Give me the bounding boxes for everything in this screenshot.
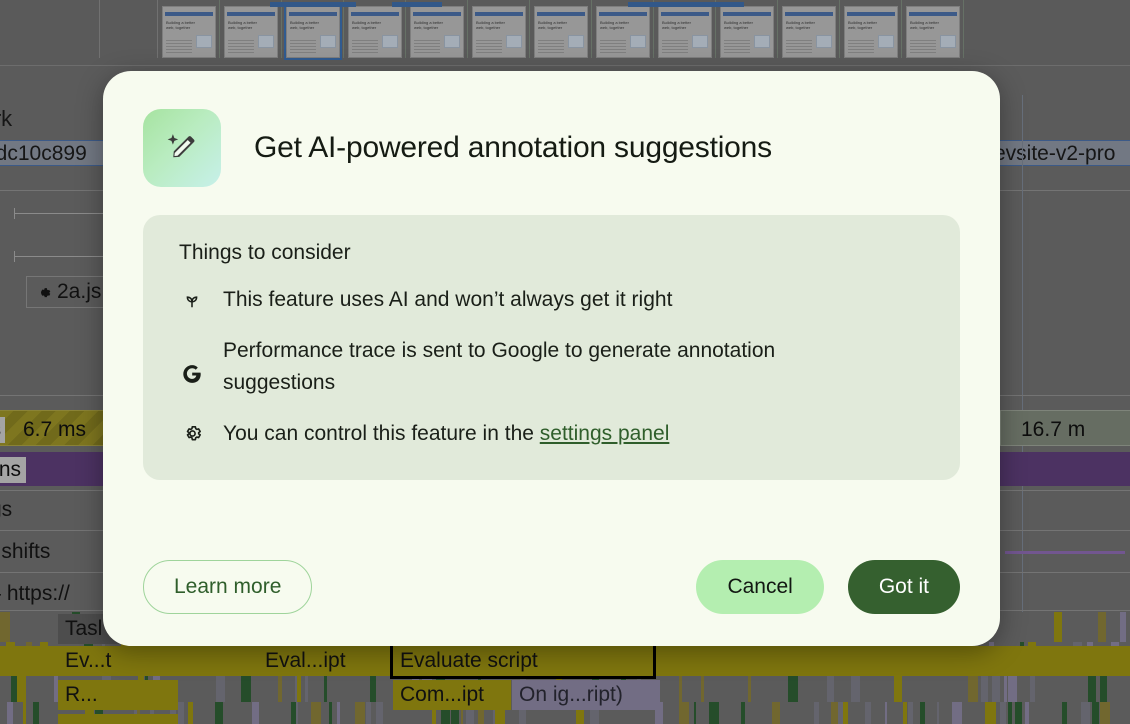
sprout-icon <box>179 286 205 312</box>
google-g-icon <box>179 361 205 387</box>
learn-more-button[interactable]: Learn more <box>143 560 312 614</box>
list-item-text: You can control this feature in the sett… <box>223 418 669 450</box>
list-item: You can control this feature in the sett… <box>179 418 930 450</box>
list-item-text: This feature uses AI and won’t always ge… <box>223 284 672 316</box>
things-to-consider-panel: Things to consider This feature uses AI … <box>143 215 960 480</box>
ai-annotation-suggestions-dialog: Get AI-powered annotation suggestions Th… <box>103 71 1000 646</box>
dialog-title: Get AI-powered annotation suggestions <box>254 131 772 165</box>
consideration-list: This feature uses AI and won’t always ge… <box>179 284 930 450</box>
list-item-text-prefix: You can control this feature in the <box>223 422 540 445</box>
panel-heading: Things to consider <box>179 241 930 265</box>
list-item: This feature uses AI and won’t always ge… <box>179 284 930 316</box>
settings-panel-link[interactable]: settings panel <box>540 422 670 445</box>
cancel-button[interactable]: Cancel <box>696 560 823 614</box>
dialog-header: Get AI-powered annotation suggestions <box>143 109 960 187</box>
list-item: Performance trace is sent to Google to g… <box>179 335 930 399</box>
dialog-actions: Learn more Cancel Got it <box>143 560 960 646</box>
ai-pencil-sparkle-icon <box>143 109 221 187</box>
primary-actions: Cancel Got it <box>696 560 960 614</box>
list-item-text: Performance trace is sent to Google to g… <box>223 335 883 399</box>
got-it-button[interactable]: Got it <box>848 560 960 614</box>
gear-icon <box>179 420 205 446</box>
devtools-performance-screen: Building a better web, togetherBuilding … <box>0 0 1130 724</box>
